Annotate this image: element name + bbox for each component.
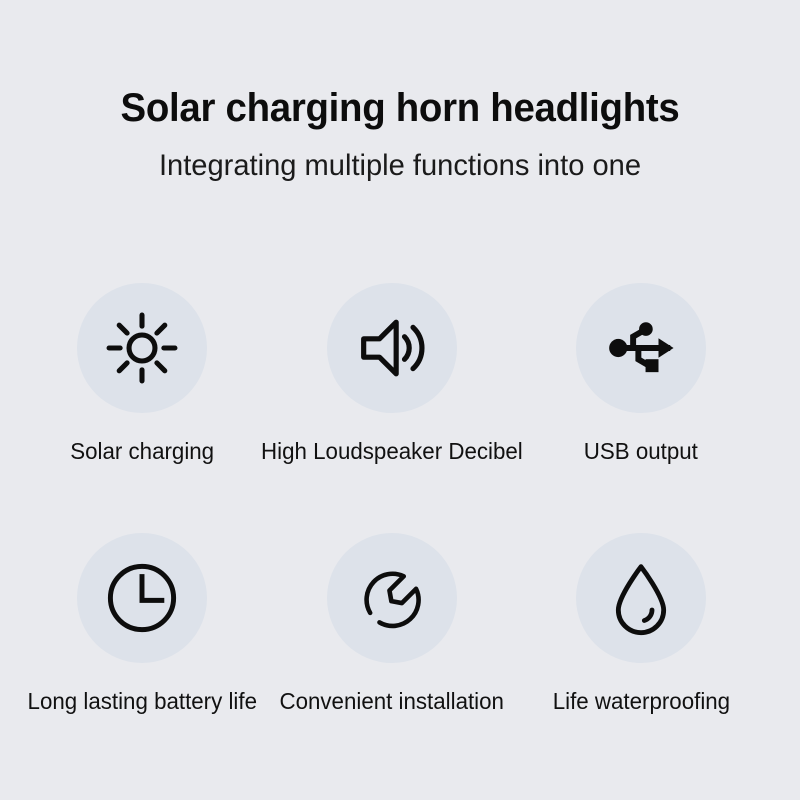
product-feature-infographic: Solar charging horn headlights Integrati… (0, 0, 800, 800)
icon-badge (576, 283, 706, 413)
page-subtitle: Integrating multiple functions into one (12, 151, 788, 181)
feature-label: USB output (584, 440, 698, 463)
icon-badge (327, 533, 457, 663)
feature-label: Long lasting battery life (27, 690, 256, 713)
header: Solar charging horn headlights Integrati… (0, 88, 800, 181)
wrench-icon (354, 560, 430, 636)
feature-item-installation: Convenient installation (267, 533, 517, 713)
feature-row: Long lasting battery life Convenient ins… (0, 533, 800, 783)
water-drop-icon (601, 558, 681, 638)
feature-item-solar-charging: Solar charging (17, 283, 267, 463)
icon-badge (327, 283, 457, 413)
feature-label: Solar charging (70, 440, 214, 463)
feature-label: Convenient installation (280, 690, 504, 713)
icon-badge (77, 283, 207, 413)
clock-icon (101, 557, 183, 639)
icon-badge (576, 533, 706, 663)
feature-grid: Solar charging High Loudspeaker Decibel (0, 283, 800, 783)
feature-item-waterproofing: Life waterproofing (516, 533, 766, 713)
feature-label: High Loudspeaker Decibel (261, 440, 523, 463)
feature-label: Life waterproofing (552, 690, 729, 713)
feature-item-battery-life: Long lasting battery life (17, 533, 267, 713)
usb-icon (599, 306, 683, 390)
feature-row: Solar charging High Loudspeaker Decibel (0, 283, 800, 533)
sun-icon (104, 310, 180, 386)
page-title: Solar charging horn headlights (16, 88, 784, 128)
loudspeaker-icon (352, 308, 432, 388)
feature-item-usb-output: USB output (516, 283, 766, 463)
feature-item-loudspeaker: High Loudspeaker Decibel (267, 283, 517, 463)
icon-badge (77, 533, 207, 663)
